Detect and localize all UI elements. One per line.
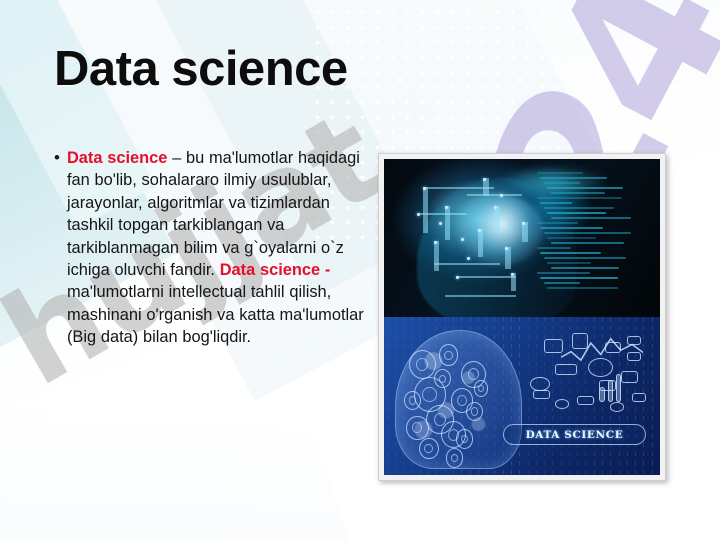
- text-run: – bu ma'lumotlar haqidagi fan bo'lib, so…: [67, 149, 360, 279]
- bullet-list-item: • Data science – bu ma'lumotlar haqidagi…: [54, 147, 374, 349]
- text-run: ma'lumotlarni intellectual tahlil qilish…: [67, 283, 364, 346]
- slide-canvas: 24 hujjat Data science • Data science – …: [0, 0, 720, 540]
- line-chart-icon: [561, 336, 644, 364]
- gear-head-silhouette: [395, 330, 522, 469]
- body-paragraph: Data science – bu ma'lumotlar haqidagi f…: [67, 147, 374, 349]
- illustration-frame: DATA SCIENCE: [378, 153, 666, 481]
- bullet-point-icon: •: [54, 147, 60, 168]
- illustration-top-circuit-brain: [384, 159, 660, 317]
- bottom-light-wash: [0, 317, 381, 540]
- keyword-run: Data science -: [220, 261, 331, 279]
- page-title: Data science: [54, 44, 348, 95]
- data-science-badge-label: DATA SCIENCE: [526, 429, 624, 441]
- illustration-bottom-gear-brain: DATA SCIENCE: [384, 317, 660, 475]
- data-science-illustration: DATA SCIENCE: [384, 159, 660, 475]
- data-science-badge: DATA SCIENCE: [503, 424, 647, 445]
- body-text-block: • Data science – bu ma'lumotlar haqidagi…: [54, 147, 374, 349]
- code-panel: [537, 172, 658, 305]
- keyword-run: Data science: [67, 149, 167, 167]
